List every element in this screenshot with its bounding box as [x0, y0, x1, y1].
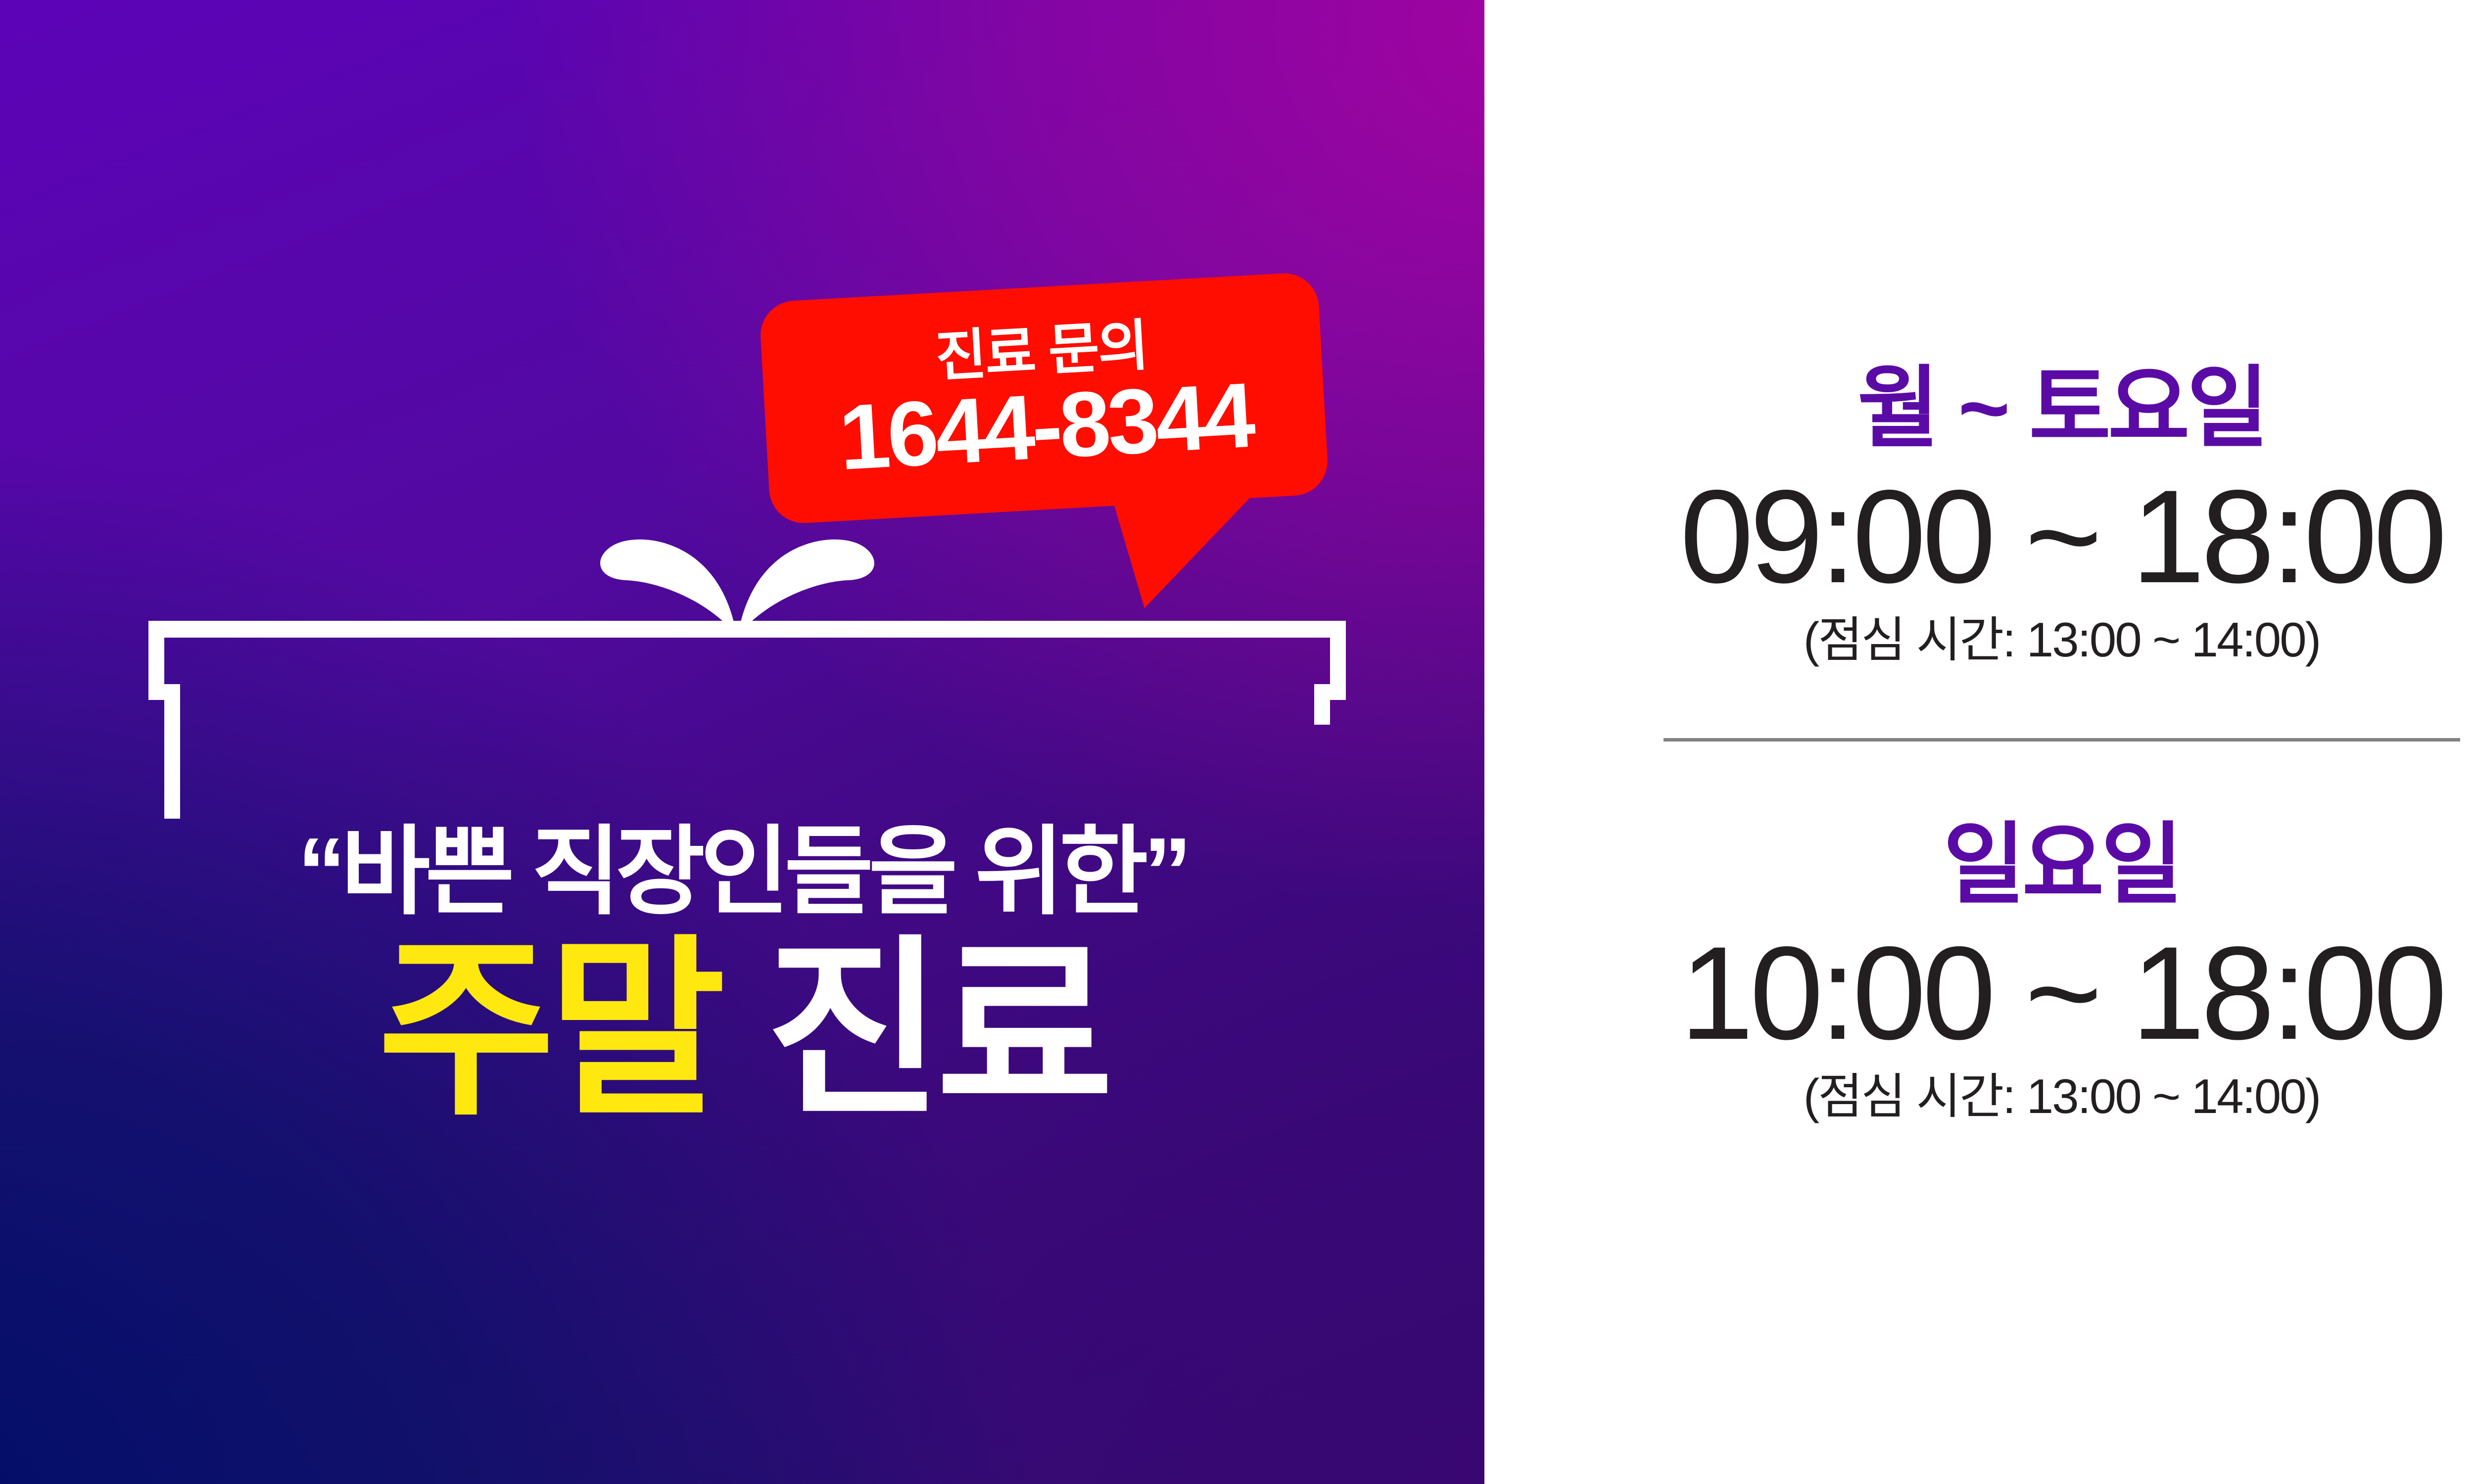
headline-block: “바쁜 직장인들을 위한” 주말 진료 — [0, 824, 1484, 1126]
speech-bubble-content: 진료 문의 1644-8344 — [759, 272, 1329, 525]
schedule-lunch-note: (점심 시간: 13:00 ~ 14:00) — [1484, 1072, 2474, 1120]
phone-speech-bubble[interactable]: 진료 문의 1644-8344 — [759, 272, 1329, 525]
schedule-row-sunday: 일요일 10:00 ~ 18:00 (점심 시간: 13:00 ~ 14:00) — [1484, 821, 2474, 1120]
schedule-row-weekday: 월 ~ 토요일 09:00 ~ 18:00 (점심 시간: 13:00 ~ 14… — [1484, 364, 2474, 664]
headline-highlight: 주말 — [378, 922, 719, 1138]
headline-subtitle: “바쁜 직장인들을 위한” — [0, 824, 1484, 921]
schedule-day-label: 일요일 — [1484, 821, 2474, 910]
schedule-day-label: 월 ~ 토요일 — [1484, 364, 2474, 453]
speech-bubble-tail — [1111, 488, 1266, 609]
phone-number[interactable]: 1644-8344 — [837, 370, 1255, 484]
gift-box-icon — [148, 621, 1346, 829]
schedule-lunch-note: (점심 시간: 13:00 ~ 14:00) — [1484, 615, 2474, 664]
schedule-time-range: 10:00 ~ 18:00 — [1484, 927, 2474, 1059]
schedule-time-range: 09:00 ~ 18:00 — [1484, 470, 2474, 603]
schedule-divider — [1664, 738, 2460, 742]
left-purple-panel: 진료 문의 1644-8344 “바쁜 직장인들을 위한” 주말 진료 — [0, 0, 1484, 1484]
promo-banner: 진료 문의 1644-8344 “바쁜 직장인들을 위한” 주말 진료 월 ~ … — [0, 0, 2474, 1484]
right-hours-panel: 월 ~ 토요일 09:00 ~ 18:00 (점심 시간: 13:00 ~ 14… — [1484, 0, 2474, 1484]
headline-main: 주말 진료 — [0, 933, 1484, 1126]
headline-rest: 진료 — [719, 922, 1107, 1138]
ribbon-bow-icon — [579, 522, 896, 636]
